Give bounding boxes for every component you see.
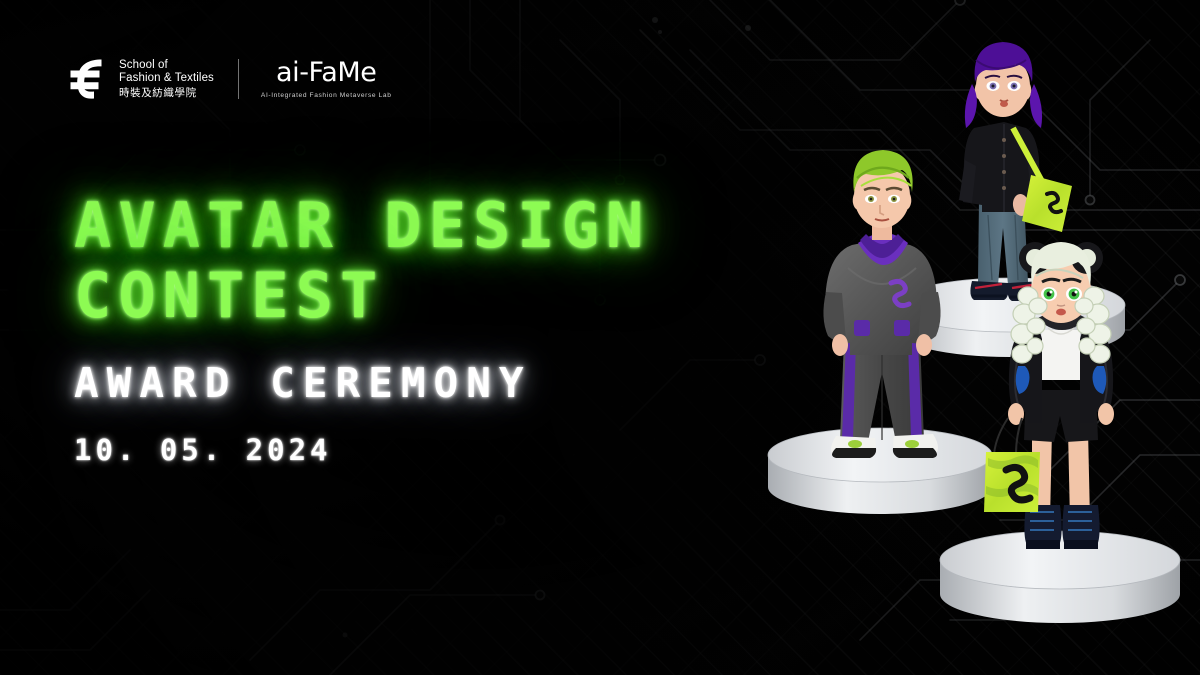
avatar-middle-left: [823, 150, 940, 458]
aifame-tagline: AI-Integrated Fashion Metaverse Lab: [261, 92, 392, 99]
aifame-wordmark: ai-FaMe: [261, 59, 392, 86]
avatar-stage: [760, 0, 1200, 675]
polyu-line-2: Fashion & Textiles: [119, 72, 214, 85]
event-title: AVATAR DESIGN CONTEST: [74, 196, 650, 325]
event-title-line-2: CONTEST: [74, 266, 650, 326]
logo-bar: School of Fashion & Textiles 時裝及紡織學院 ai-…: [68, 57, 391, 101]
logo-divider: [238, 59, 239, 99]
event-subtitle: AWARD CEREMONY: [74, 359, 650, 407]
polyu-line-1: School of: [119, 59, 214, 72]
poster-canvas: School of Fashion & Textiles 時裝及紡織學院 ai-…: [0, 0, 1200, 675]
aifame-logo: ai-FaMe AI-Integrated Fashion Metaverse …: [261, 59, 392, 99]
polyu-logo: School of Fashion & Textiles 時裝及紡織學院: [68, 57, 214, 101]
event-title-line-1: AVATAR DESIGN: [74, 189, 650, 262]
polyu-f-mark-icon: [68, 57, 108, 101]
event-date: 10. 05. 2024: [74, 433, 650, 467]
polyu-logo-text: School of Fashion & Textiles 時裝及紡織學院: [119, 59, 214, 99]
headline-block: AVATAR DESIGN CONTEST AWARD CEREMONY 10.…: [74, 196, 650, 467]
polyu-line-3-chinese: 時裝及紡織學院: [119, 87, 214, 99]
podium-middle: [768, 428, 992, 514]
